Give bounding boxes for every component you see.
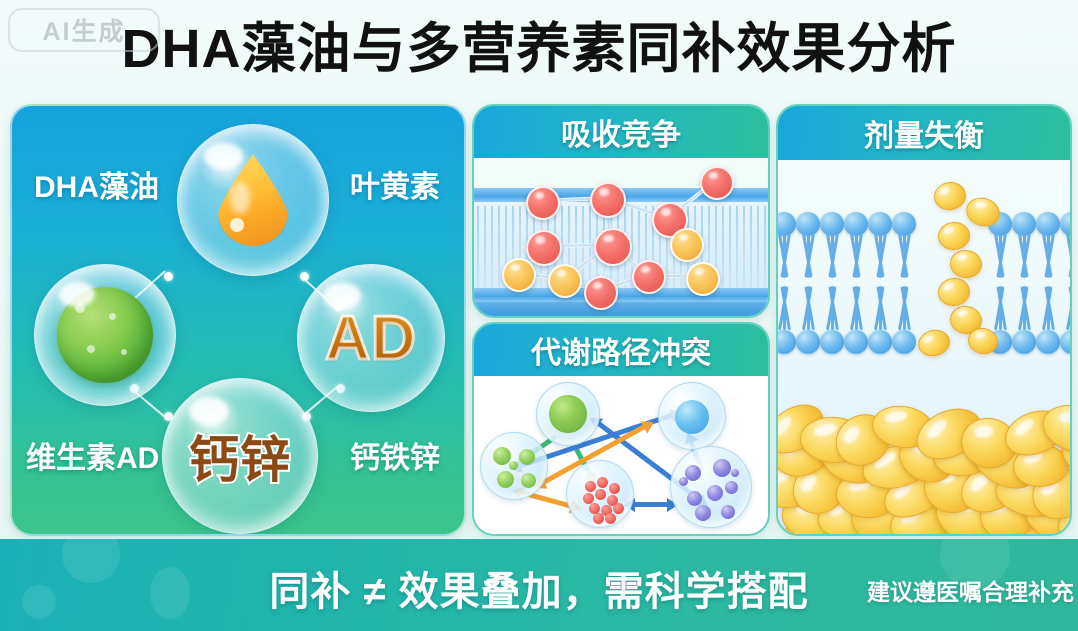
red-particle	[585, 481, 596, 492]
lipid-tail	[491, 206, 493, 292]
green-droplet	[497, 471, 514, 488]
lipid-tail	[757, 206, 759, 292]
banner-sub-text: 建议遵医嘱合理补充	[867, 573, 1074, 607]
node-highlight	[557, 270, 566, 277]
pathway-cell-purple	[670, 446, 752, 528]
softgel-highlight	[943, 282, 955, 293]
softgel-highlight	[924, 417, 948, 441]
purple-particle	[731, 469, 739, 477]
purple-particle	[713, 459, 731, 477]
softgel-highlight	[975, 331, 986, 338]
molecule-node-yellow	[686, 262, 720, 296]
molecule-node-red	[632, 260, 666, 294]
purple-particle	[725, 481, 738, 494]
bubble-calcium-zinc: 钙锌	[162, 378, 318, 534]
oil-drop-icon	[218, 154, 288, 246]
softgel-highlight	[975, 202, 987, 209]
algae-cell-icon	[57, 287, 153, 383]
falling-softgel	[948, 248, 984, 280]
molecule-node-red	[700, 166, 734, 200]
green-droplet-icon	[481, 433, 547, 499]
softgel-highlight	[841, 423, 862, 445]
green-droplet	[521, 473, 536, 488]
softgel-highlight	[1013, 417, 1036, 438]
softgel-highlight	[778, 415, 793, 438]
purple-particle	[687, 491, 702, 506]
card-absorption-competition: 吸收竞争	[472, 104, 770, 318]
illustration-membrane-competition	[474, 158, 768, 316]
capsule-pile	[778, 384, 1070, 534]
red-cluster-icon	[567, 461, 633, 527]
softgel-highlight	[939, 186, 951, 197]
illustration-bilayer-softgels	[778, 160, 1070, 534]
molecule-node-red	[526, 186, 560, 220]
lipid-tail	[750, 206, 752, 292]
purple-particle	[679, 477, 688, 486]
green-droplet	[509, 461, 518, 470]
infographic-root: AI生成 DHA藻油与多营养素同补效果分析 DHA藻油 叶黄素 维生素AD 钙铁…	[0, 0, 1078, 631]
lipid-tail	[582, 206, 584, 292]
lipid-tail	[764, 206, 766, 292]
falling-softgel	[932, 179, 968, 212]
node-highlight	[695, 268, 704, 275]
falling-softgel	[963, 193, 1004, 230]
bubble-vitamin-ad: AD	[297, 264, 445, 412]
molecule-node-red	[594, 228, 632, 266]
bubble-dha-oil	[177, 124, 329, 276]
lipid-tail	[484, 206, 486, 292]
illustration-pathway-network	[474, 376, 768, 534]
lipid-tail	[743, 206, 745, 292]
label-calcium-iron-zinc: 钙铁锌	[350, 433, 440, 477]
node-highlight	[641, 266, 650, 273]
lipid-tail	[498, 206, 500, 292]
card-metabolic-conflict: 代谢路径冲突	[472, 322, 770, 536]
softgel-highlight	[1058, 411, 1070, 423]
purple-particle	[721, 505, 735, 519]
pathway-cell-redcluster	[566, 460, 634, 528]
node-highlight	[603, 235, 613, 242]
softgel-highlight	[923, 333, 935, 344]
card-title-absorption: 吸收竞争	[474, 106, 768, 158]
node-highlight	[709, 172, 718, 179]
falling-softgel	[915, 327, 952, 360]
purple-molecule-icon	[671, 447, 751, 527]
softgel-highlight	[957, 254, 969, 262]
softgel-highlight	[884, 410, 907, 424]
pathway-cell-greendots	[480, 432, 548, 500]
page-title: DHA藻油与多营养素同补效果分析	[0, 16, 1078, 82]
purple-particle	[695, 505, 711, 521]
membrane-base-strip	[474, 302, 768, 316]
softgel-highlight	[943, 226, 955, 236]
calcium-zinc-text-icon: 钙锌	[189, 420, 291, 492]
molecule-node-red	[590, 182, 626, 218]
label-vitamin-ad: 维生素AD	[26, 433, 159, 477]
node-highlight	[599, 188, 609, 195]
red-particle	[609, 483, 620, 494]
lipid-tail	[729, 206, 731, 292]
green-droplet	[519, 449, 535, 465]
green-droplet	[493, 447, 511, 465]
red-particle	[595, 489, 606, 500]
red-particle	[605, 513, 616, 524]
node-highlight	[535, 192, 544, 199]
lipid-tail	[736, 206, 738, 292]
lipid-tail	[477, 206, 479, 292]
molecule-node-yellow	[548, 264, 582, 298]
connector-dot	[164, 272, 173, 281]
nucleus-core-icon	[675, 400, 709, 434]
bottom-banner: 同补 ≠ 效果叠加，需科学搭配 建议遵医嘱合理补充	[0, 539, 1078, 631]
softgel-highlight	[957, 310, 969, 318]
falling-capsule-group	[778, 160, 1070, 420]
pathway-cell-nucleus	[658, 382, 726, 450]
label-dha-algae-oil: DHA藻油	[34, 162, 159, 206]
bubble-algae-cell	[34, 264, 176, 406]
card-title-dose: 剂量失衡	[778, 106, 1070, 160]
ad-text-icon: AD	[325, 303, 417, 374]
nutrient-synergy-panel: DHA藻油 叶黄素 维生素AD 钙铁锌 AD	[10, 104, 466, 536]
node-highlight	[511, 264, 520, 271]
node-highlight	[679, 234, 688, 241]
card-dose-imbalance: 剂量失衡	[776, 104, 1072, 536]
purple-particle	[707, 485, 723, 501]
red-particle	[613, 503, 624, 514]
softgel-highlight	[813, 421, 839, 438]
node-highlight	[535, 236, 545, 243]
node-highlight	[661, 208, 671, 215]
molecule-node-red	[526, 230, 562, 266]
red-particle	[597, 477, 608, 488]
algae-core-icon	[549, 395, 586, 432]
card-title-metabolic: 代谢路径冲突	[474, 324, 768, 376]
falling-softgel	[936, 276, 972, 308]
falling-softgel	[937, 220, 972, 251]
pathway-arrow-blue	[626, 502, 676, 507]
molecule-node-yellow	[502, 258, 536, 292]
molecule-node-red	[584, 276, 618, 310]
molecule-node-yellow	[670, 228, 704, 262]
node-highlight	[593, 282, 602, 289]
red-particle	[593, 513, 604, 524]
lipid-tail	[722, 206, 724, 292]
softgel-highlight	[973, 424, 994, 438]
label-lutein: 叶黄素	[350, 162, 440, 206]
